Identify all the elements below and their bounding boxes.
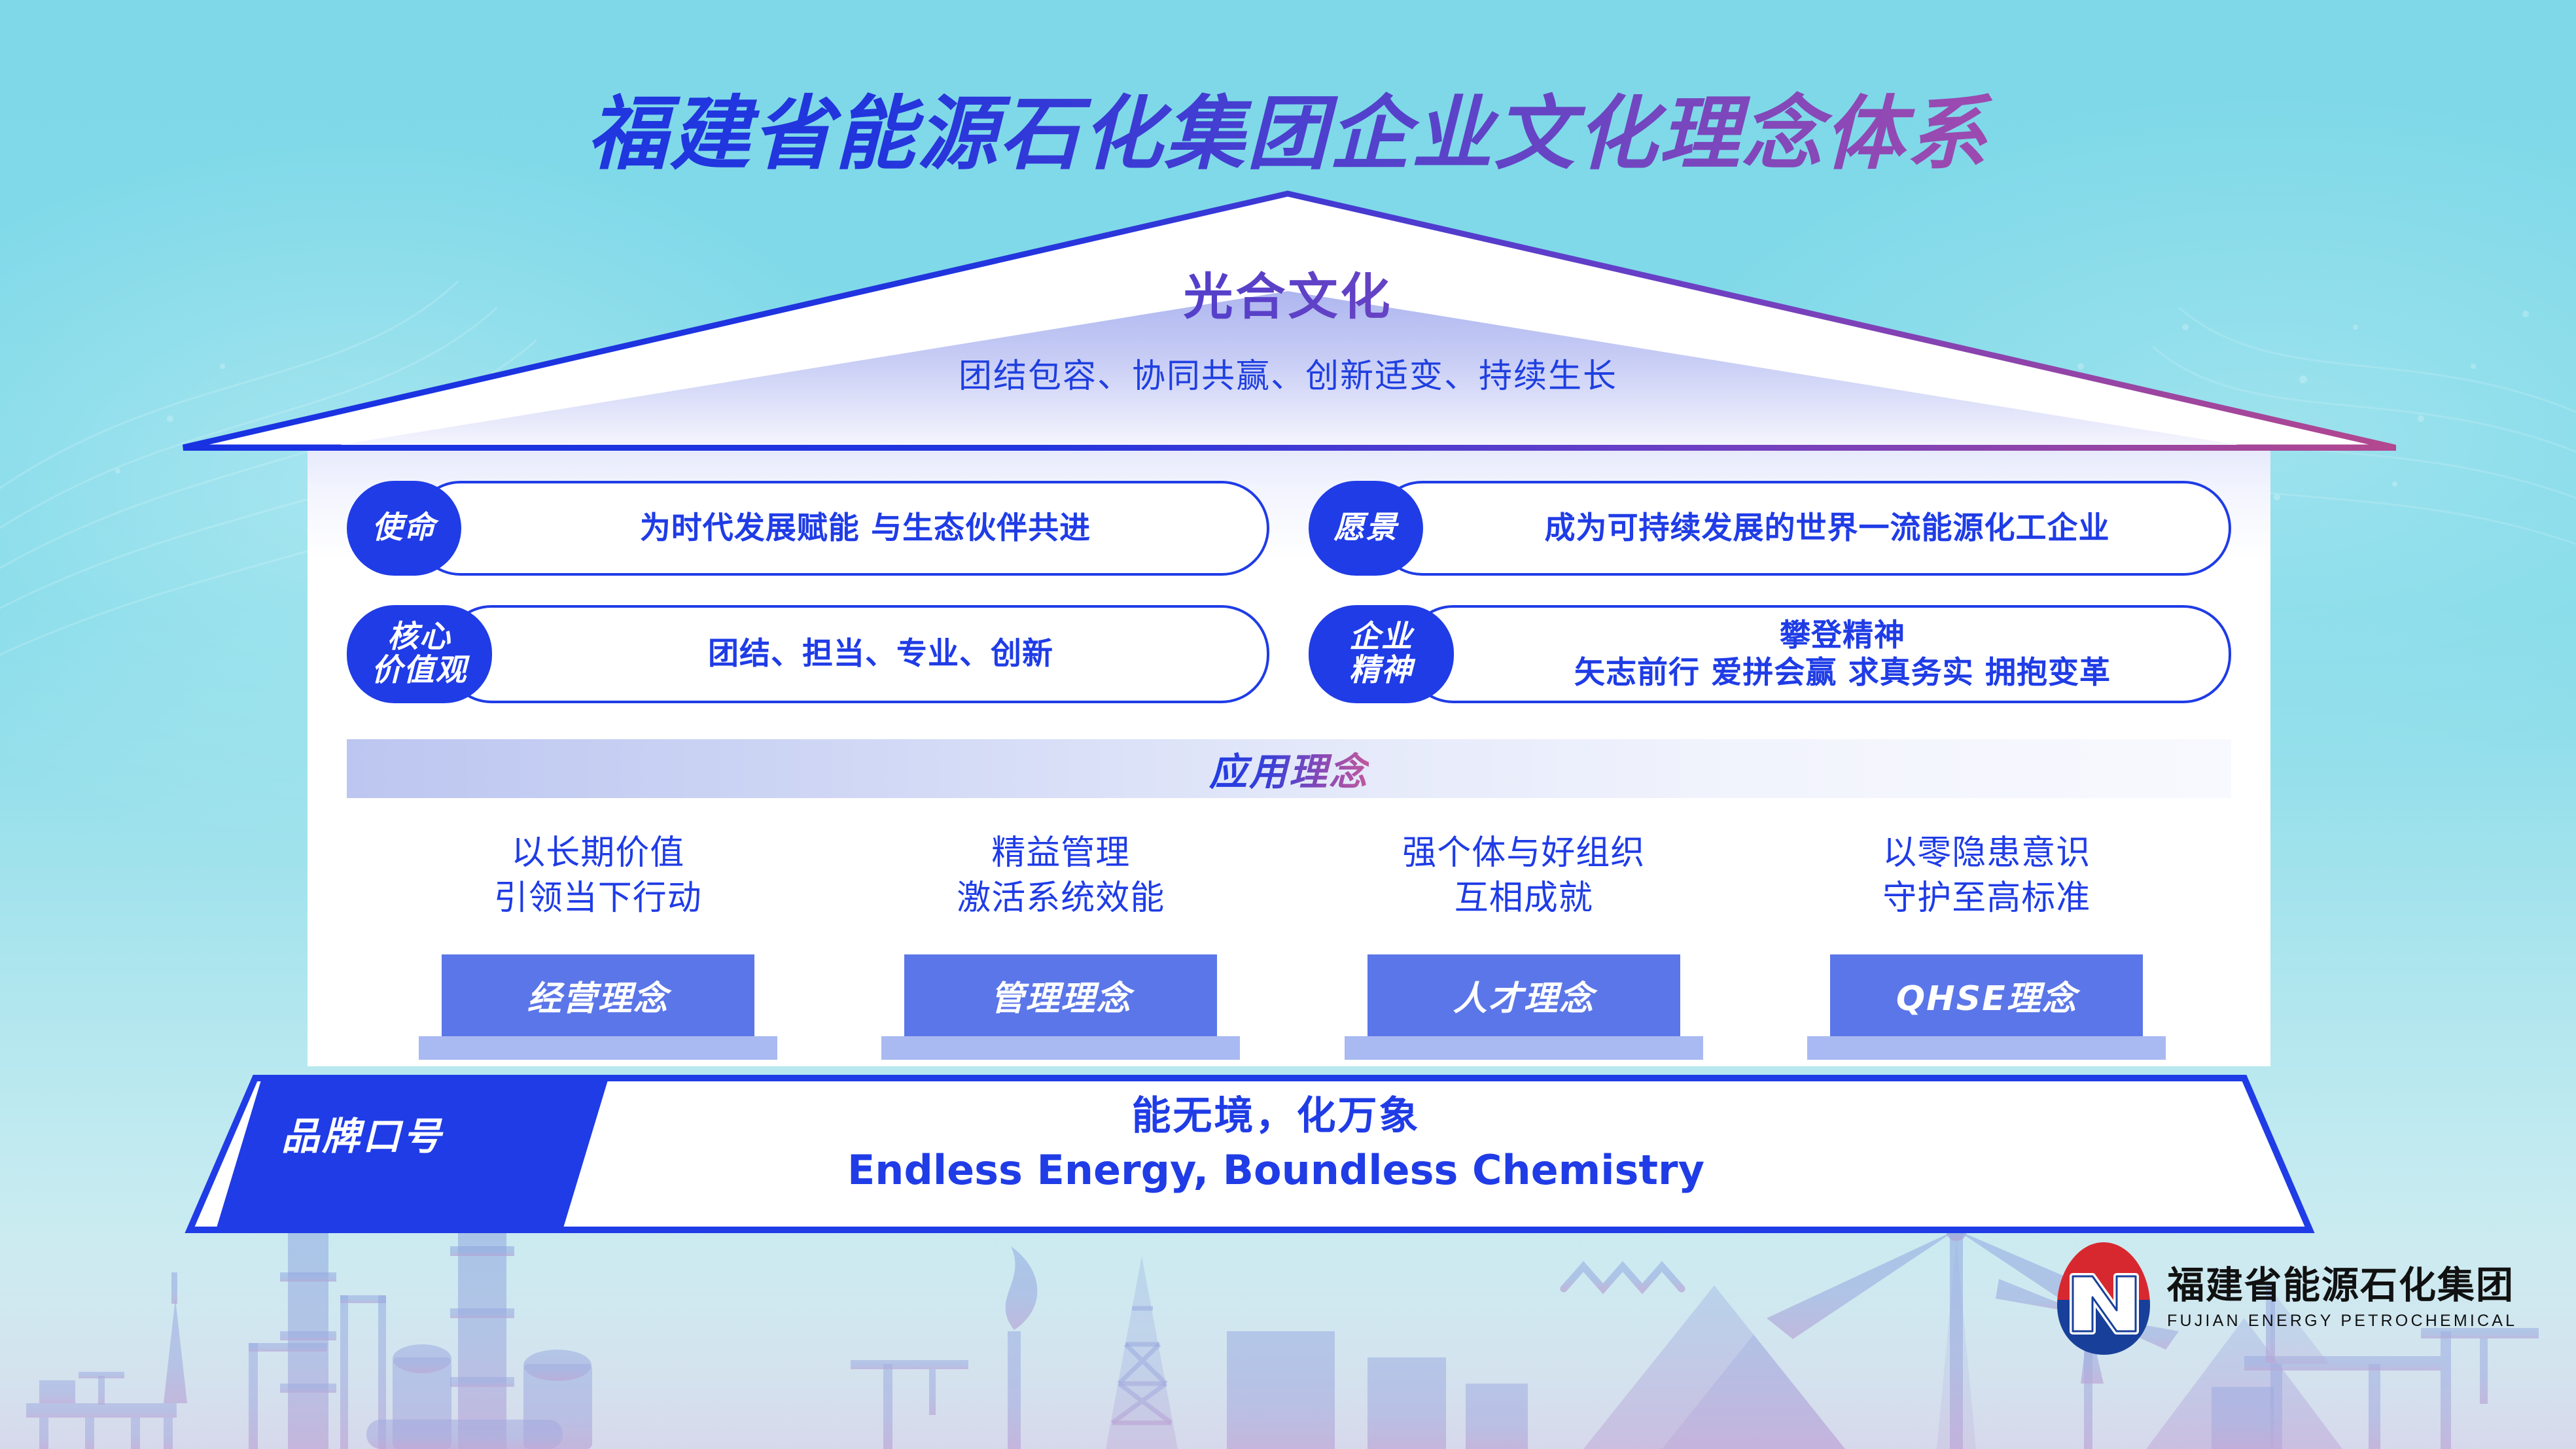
concept-qhse-text: 以零隐患意识 守护至高标准 bbox=[1882, 831, 2091, 920]
pill-core-values-tag-line-2: 价值观 bbox=[372, 654, 468, 688]
concept-management-text: 精益管理 激活系统效能 bbox=[957, 831, 1165, 920]
concept-management-pedestal: 管理理念 bbox=[881, 954, 1240, 1060]
pill-row-2-left: 核心 价值观 团结、担当、专业、创新 bbox=[347, 605, 1269, 703]
logo-droplet-icon bbox=[2055, 1240, 2153, 1357]
pill-corporate-spirit-text-1: 攀登精神 bbox=[1780, 617, 1905, 654]
pill-mission-text: 为时代发展赋能 与生态伙伴共进 bbox=[640, 510, 1091, 547]
pill-vision-text: 成为可持续发展的世界一流能源化工企业 bbox=[1545, 510, 2110, 547]
pill-corporate-spirit-tag-line-1: 企业 bbox=[1349, 621, 1413, 654]
brand-slogan-tag: 品牌口号 bbox=[281, 1106, 444, 1161]
pill-mission-body: 为时代发展赋能 与生态伙伴共进 bbox=[413, 481, 1269, 576]
company-logo[interactable]: 福建省能源石化集团 FUJIAN ENERGY PETROCHEMICAL bbox=[2055, 1240, 2517, 1357]
pill-vision-tag: 愿景 bbox=[1309, 481, 1423, 576]
concept-talent-base bbox=[1345, 1036, 1703, 1060]
concept-business-base bbox=[419, 1036, 777, 1060]
logo-name-cn: 福建省能源石化集团 bbox=[2167, 1266, 2517, 1306]
concept-talent-label: 人才理念 bbox=[1367, 954, 1680, 1036]
concept-management-label: 管理理念 bbox=[904, 954, 1217, 1036]
concept-qhse-base bbox=[1807, 1036, 2166, 1060]
logo-name-en: FUJIAN ENERGY PETROCHEMICAL bbox=[2167, 1312, 2517, 1331]
concept-talent-text: 强个体与好组织 互相成就 bbox=[1402, 831, 1645, 920]
brand-slogan-en: Endless Energy, Boundless Chemistry bbox=[654, 1144, 1897, 1196]
pill-core-values[interactable]: 核心 价值观 团结、担当、专业、创新 bbox=[347, 605, 1269, 703]
pill-row-2-right: 企业 精神 攀登精神 矢志前行 爱拼会赢 求真务实 拥抱变革 bbox=[1309, 605, 2231, 703]
brand-slogan-text: 能无境，化万象 Endless Energy, Boundless Chemis… bbox=[654, 1091, 1897, 1196]
concept-business-label: 经营理念 bbox=[442, 954, 754, 1036]
pill-vision[interactable]: 愿景 成为可持续发展的世界一流能源化工企业 bbox=[1309, 481, 2231, 576]
pill-mission-tag-line: 使命 bbox=[372, 512, 436, 545]
pill-core-values-body: 团结、担当、专业、创新 bbox=[444, 605, 1269, 703]
concept-business-text: 以长期价值 引领当下行动 bbox=[494, 831, 702, 920]
pill-corporate-spirit-tag: 企业 精神 bbox=[1309, 605, 1454, 703]
culture-name: 光合文化 bbox=[0, 256, 2576, 328]
pill-core-values-tag-line-1: 核心 bbox=[387, 621, 451, 654]
pill-vision-body: 成为可持续发展的世界一流能源化工企业 bbox=[1375, 481, 2231, 576]
brand-slogan-cn: 能无境，化万象 bbox=[654, 1091, 1897, 1142]
apply-concepts-title: 应用理念 bbox=[1209, 741, 1369, 796]
concept-business-pedestal: 经营理念 bbox=[419, 954, 777, 1060]
logo-text-block: 福建省能源石化集团 FUJIAN ENERGY PETROCHEMICAL bbox=[2167, 1266, 2517, 1331]
concept-management-base bbox=[881, 1036, 1240, 1060]
pill-corporate-spirit-tag-line-2: 精神 bbox=[1349, 654, 1413, 688]
concept-column-business[interactable]: 以长期价值 引领当下行动 经营理念 bbox=[366, 831, 830, 1060]
concept-qhse-pedestal: QHSE理念 bbox=[1807, 954, 2166, 1060]
pill-core-values-text: 团结、担当、专业、创新 bbox=[708, 635, 1053, 672]
pill-row-1-left: 使命 为时代发展赋能 与生态伙伴共进 bbox=[347, 481, 1269, 576]
pill-row-1-right: 愿景 成为可持续发展的世界一流能源化工企业 bbox=[1309, 481, 2231, 576]
pill-mission[interactable]: 使命 为时代发展赋能 与生态伙伴共进 bbox=[347, 481, 1269, 576]
culture-slogan: 团结包容、协同共赢、创新适变、持续生长 bbox=[0, 349, 2576, 397]
concept-talent-pedestal: 人才理念 bbox=[1345, 954, 1703, 1060]
pill-mission-tag: 使命 bbox=[347, 481, 461, 576]
concept-columns: 以长期价值 引领当下行动 经营理念 精益管理 激活系统效能 管理理念 强个体与好… bbox=[366, 831, 2218, 1060]
pill-corporate-spirit[interactable]: 企业 精神 攀登精神 矢志前行 爱拼会赢 求真务实 拥抱变革 bbox=[1309, 605, 2231, 703]
pill-vision-tag-line: 愿景 bbox=[1334, 512, 1398, 545]
apply-concepts-header: 应用理念 bbox=[347, 739, 2231, 798]
pill-corporate-spirit-body: 攀登精神 矢志前行 爱拼会赢 求真务实 拥抱变革 bbox=[1405, 605, 2231, 703]
concept-column-qhse[interactable]: 以零隐患意识 守护至高标准 QHSE理念 bbox=[1756, 831, 2219, 1060]
concept-column-talent[interactable]: 强个体与好组织 互相成就 人才理念 bbox=[1292, 831, 1756, 1060]
pill-corporate-spirit-text-2: 矢志前行 爱拼会赢 求真务实 拥抱变革 bbox=[1574, 654, 2111, 691]
concept-column-management[interactable]: 精益管理 激活系统效能 管理理念 bbox=[830, 831, 1293, 1060]
concept-qhse-label: QHSE理念 bbox=[1830, 954, 2143, 1036]
pill-core-values-tag: 核心 价值观 bbox=[347, 605, 492, 703]
